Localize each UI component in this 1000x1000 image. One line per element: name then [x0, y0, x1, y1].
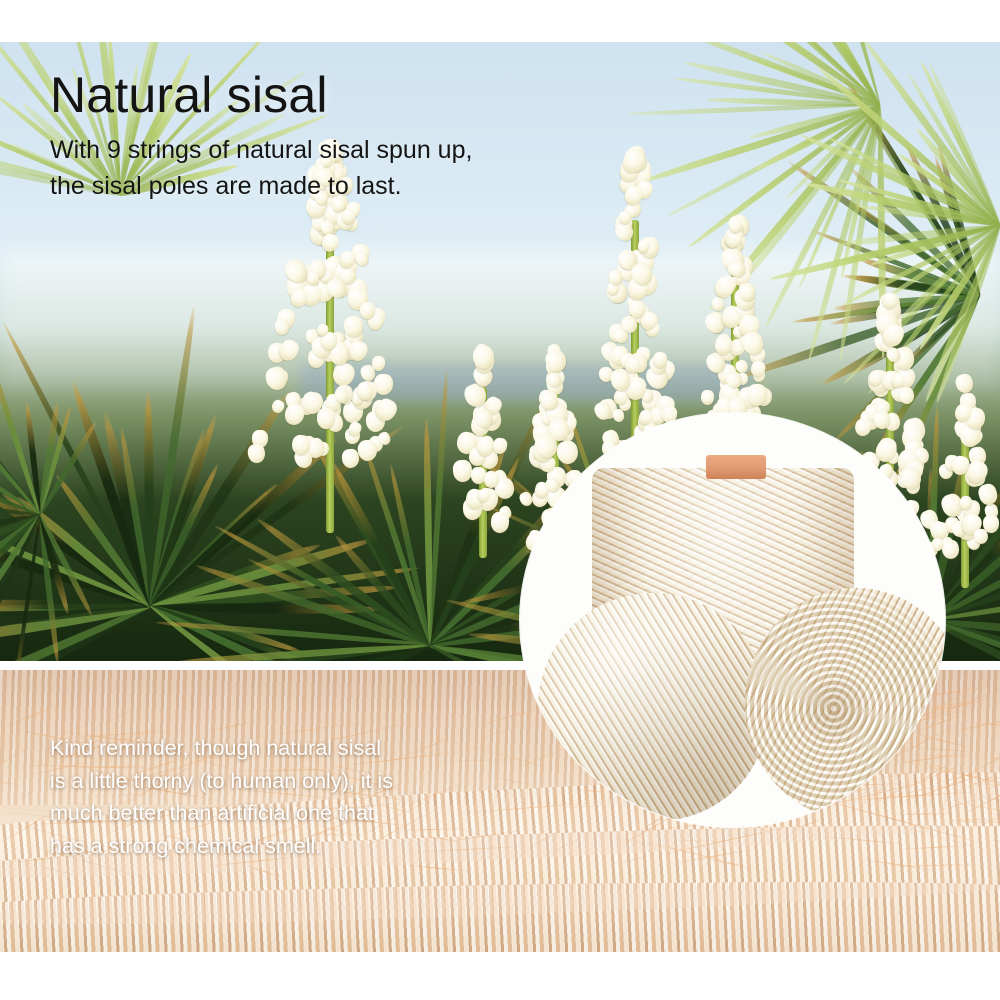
product-infographic: Natural sisal With 9 strings of natural …: [0, 0, 1000, 1000]
note-line-2: is a little thorny (to human only), it i…: [50, 765, 393, 798]
twine-ball-left: [538, 593, 768, 821]
subtext-line-2: the sisal poles are made to last.: [50, 169, 472, 205]
headline-block: Natural sisal With 9 strings of natural …: [50, 70, 472, 204]
note-line-1: Kind reminder, though natural sisal: [50, 732, 393, 765]
subtext-line-1: With 9 strings of natural sisal spun up,: [50, 133, 472, 169]
cone-cap-icon: [706, 455, 766, 479]
page-title: Natural sisal: [50, 70, 472, 120]
headline-subtext: With 9 strings of natural sisal spun up,…: [50, 133, 472, 204]
note-line-3: much better than artificial one that: [50, 797, 393, 830]
kind-reminder-note: Kind reminder, though natural sisal is a…: [50, 732, 393, 863]
sisal-twine-product-inset: [520, 413, 945, 827]
note-line-4: has a strong chemical smell.: [50, 830, 393, 863]
twine-ball-right: [745, 588, 945, 820]
